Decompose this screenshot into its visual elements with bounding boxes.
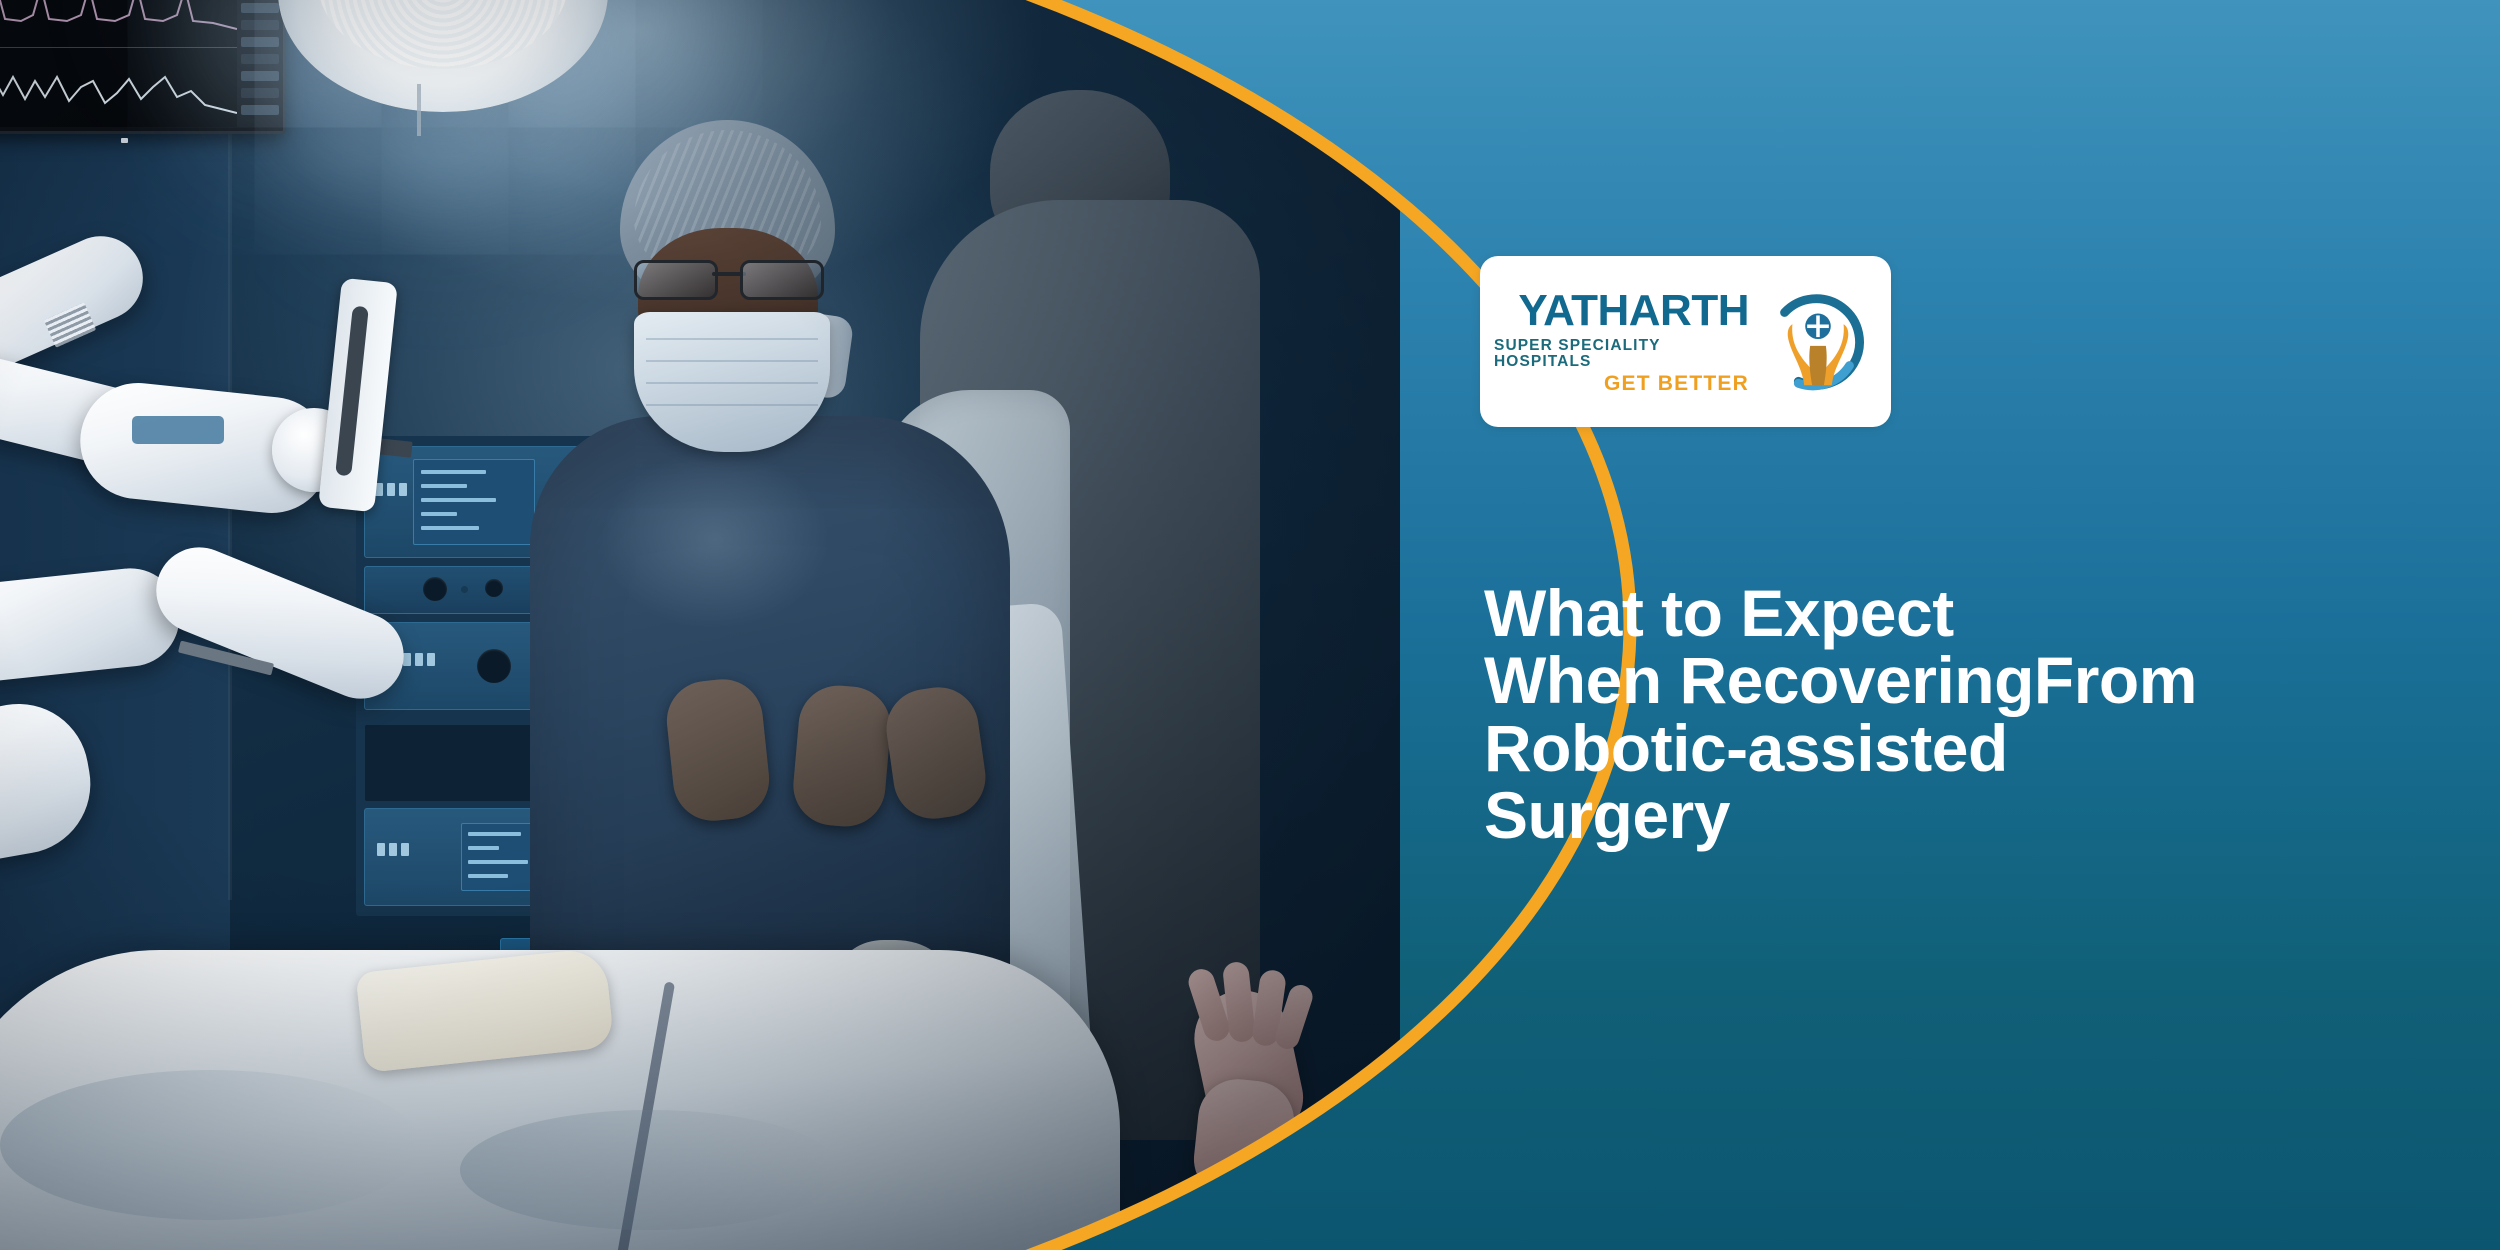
logo-stem xyxy=(1809,345,1826,384)
page-title: What to Expect When RecoveringFrom Robot… xyxy=(1484,580,2484,849)
logo-subtitle: SUPER SPECIALITY HOSPITALS xyxy=(1494,338,1749,369)
headline-line-2: When RecoveringFrom xyxy=(1484,647,2484,714)
logo-brand-name: YATHARTH xyxy=(1518,289,1749,333)
orange-arc-stroke xyxy=(0,0,1630,1250)
logo-card[interactable]: YATHARTH SUPER SPECIALITY HOSPITALS GET … xyxy=(1480,256,1891,427)
headline-line-4: Surgery xyxy=(1484,782,2484,849)
banner-root: YATHARTH SUPER SPECIALITY HOSPITALS GET … xyxy=(0,0,2500,1250)
logo-wordmark: YATHARTH SUPER SPECIALITY HOSPITALS GET … xyxy=(1494,289,1749,394)
logo-cross-horizontal xyxy=(1807,324,1829,328)
logo-tagline: GET BETTER xyxy=(1604,373,1749,394)
headline-line-3: Robotic-assisted xyxy=(1484,715,2484,782)
logo-hands-mark xyxy=(1759,283,1877,401)
headline-line-1: What to Expect xyxy=(1484,580,2484,647)
